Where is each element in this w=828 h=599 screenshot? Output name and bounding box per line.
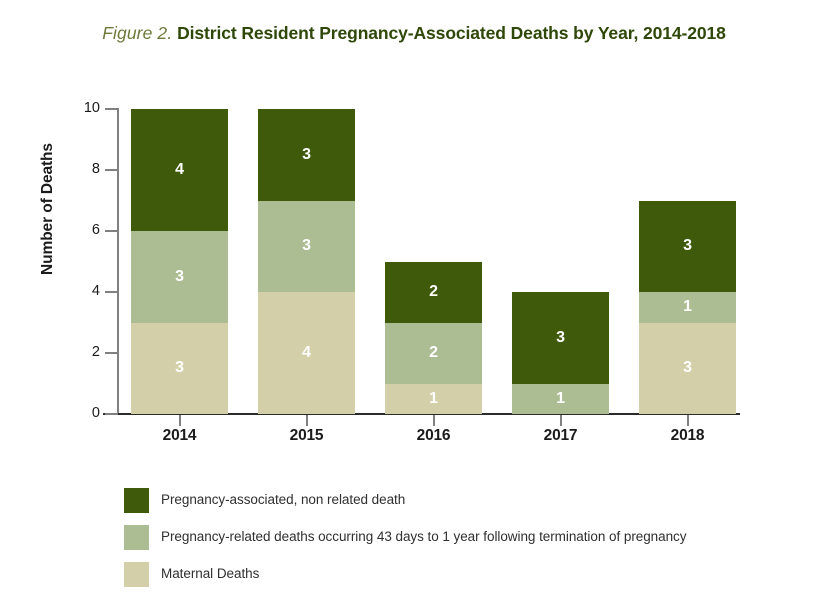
y-axis-tick: [105, 230, 118, 232]
y-axis-tick-label-wrap: 0: [60, 406, 100, 420]
y-axis-tick: [105, 169, 118, 171]
bar-segment[interactable]: 3: [639, 323, 736, 415]
legend-item[interactable]: Pregnancy-related deaths occurring 43 da…: [124, 525, 814, 562]
y-axis-tick: [105, 352, 118, 354]
y-axis-tick-label-wrap: 2: [60, 345, 100, 359]
bar-segment[interactable]: 3: [258, 109, 355, 201]
bar-value-label: 3: [175, 269, 184, 285]
bar-value-label: 3: [556, 330, 565, 346]
y-axis-tick-label-wrap: 4: [60, 284, 100, 298]
bar-value-label: 1: [683, 299, 692, 315]
x-axis-tick-label: 2015: [247, 427, 367, 445]
bar-segment[interactable]: 4: [131, 109, 228, 231]
x-axis-tick: [560, 415, 562, 426]
y-axis-tick-label: 0: [66, 406, 100, 420]
bar-segment[interactable]: 1: [639, 292, 736, 323]
bar-segment[interactable]: 2: [385, 262, 482, 323]
legend-item[interactable]: Pregnancy-associated, non related death: [124, 488, 814, 525]
legend-item-label: Pregnancy-related deaths occurring 43 da…: [161, 529, 686, 544]
bar-value-label: 3: [175, 360, 184, 376]
bar-value-label: 4: [175, 162, 184, 178]
legend-item-label: Maternal Deaths: [161, 566, 259, 581]
bar-segment[interactable]: 3: [131, 231, 228, 323]
y-axis-tick: [105, 108, 118, 110]
x-axis-tick: [179, 415, 181, 426]
bar-value-label: 1: [556, 391, 565, 407]
y-axis-tick-label-wrap: 6: [60, 223, 100, 237]
y-axis-tick-label: 2: [66, 345, 100, 359]
x-axis-tick: [306, 415, 308, 426]
y-axis-title: Number of Deaths: [39, 109, 57, 309]
bar-value-label: 3: [683, 238, 692, 254]
x-axis-tick-label: 2018: [628, 427, 748, 445]
bar-segment[interactable]: 3: [131, 323, 228, 415]
x-axis-tick: [433, 415, 435, 426]
bar-segment[interactable]: 1: [385, 384, 482, 415]
legend-swatch-related: [124, 525, 149, 550]
bar-segment[interactable]: 3: [512, 292, 609, 384]
bar-value-label: 1: [429, 391, 438, 407]
y-axis-tick-label: 10: [66, 101, 100, 115]
bar-value-label: 3: [683, 360, 692, 376]
y-axis-tick: [105, 413, 118, 415]
bar-value-label: 4: [302, 345, 311, 361]
legend-item[interactable]: Maternal Deaths: [124, 562, 814, 599]
y-axis-line: [117, 108, 119, 415]
y-axis-tick-label: 6: [66, 223, 100, 237]
chart-legend: Pregnancy-associated, non related deathP…: [124, 488, 814, 599]
bar-segment[interactable]: 2: [385, 323, 482, 384]
x-axis-tick: [687, 415, 689, 426]
bar-segment[interactable]: 3: [258, 201, 355, 293]
x-axis-tick-label: 2016: [374, 427, 494, 445]
bar-value-label: 2: [429, 345, 438, 361]
y-axis-tick-label: 8: [66, 162, 100, 176]
bar-value-label: 2: [429, 284, 438, 300]
y-axis-tick: [105, 291, 118, 293]
bar-segment[interactable]: 3: [639, 201, 736, 293]
legend-swatch-maternal: [124, 562, 149, 587]
y-axis-tick-label-wrap: 10: [60, 101, 100, 115]
x-axis-tick-label: 2017: [501, 427, 621, 445]
bar-segment[interactable]: 1: [512, 384, 609, 415]
x-axis-tick-label: 2014: [120, 427, 240, 445]
legend-swatch-non-related: [124, 488, 149, 513]
y-axis-tick-label-wrap: 8: [60, 162, 100, 176]
bar-segment[interactable]: 4: [258, 292, 355, 414]
bar-value-label: 3: [302, 147, 311, 163]
bar-value-label: 3: [302, 238, 311, 254]
y-axis-tick-label: 4: [66, 284, 100, 298]
legend-item-label: Pregnancy-associated, non related death: [161, 492, 405, 507]
